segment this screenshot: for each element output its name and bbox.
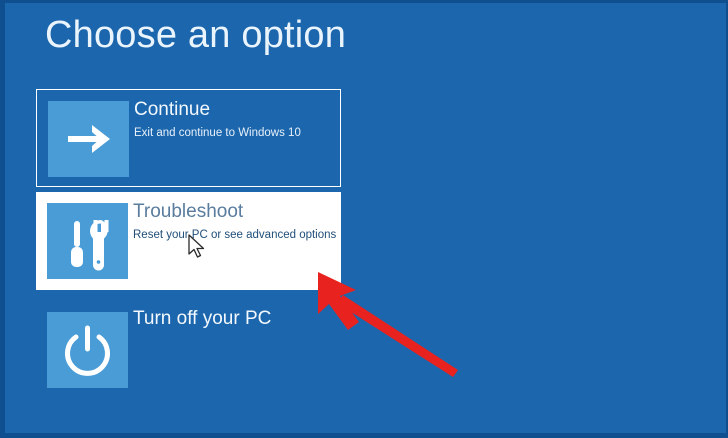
power-icon bbox=[47, 312, 128, 388]
option-title: Turn off your PC bbox=[133, 307, 335, 331]
option-subtitle: Reset your PC or see advanced options bbox=[133, 227, 335, 243]
screwdriver-wrench-icon bbox=[47, 203, 128, 279]
recovery-screen: Choose an option Continue Exit and conti… bbox=[0, 0, 728, 438]
screen-edge-bottom bbox=[0, 433, 728, 438]
option-text-continue: Continue Exit and continue to Windows 10 bbox=[134, 98, 334, 141]
option-subtitle: Exit and continue to Windows 10 bbox=[134, 125, 334, 141]
arrow-right-icon bbox=[48, 101, 129, 177]
option-title: Troubleshoot bbox=[133, 200, 335, 224]
page-title: Choose an option bbox=[45, 14, 346, 57]
option-tile-turn-off[interactable]: Turn off your PC bbox=[36, 295, 341, 393]
option-title: Continue bbox=[134, 98, 334, 122]
option-text-turn-off: Turn off your PC bbox=[133, 307, 335, 334]
screen-edge-left bbox=[0, 0, 5, 438]
option-tile-continue[interactable]: Continue Exit and continue to Windows 10 bbox=[36, 89, 341, 187]
option-text-troubleshoot: Troubleshoot Reset your PC or see advanc… bbox=[133, 200, 335, 243]
screen-edge-top bbox=[0, 0, 728, 3]
option-tile-troubleshoot[interactable]: Troubleshoot Reset your PC or see advanc… bbox=[36, 192, 341, 290]
